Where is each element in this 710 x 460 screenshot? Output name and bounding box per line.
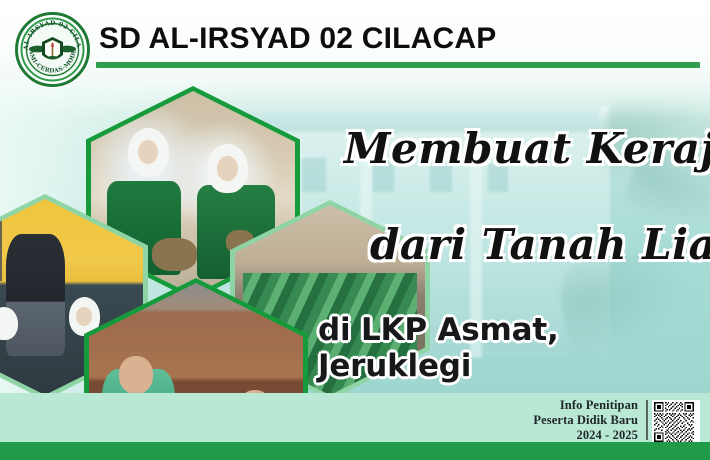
qr-code[interactable] [652, 400, 700, 448]
admission-info-line-1: Info Penitipan [533, 398, 638, 413]
title-underline-rule [96, 62, 700, 68]
admission-info: Info Penitipan Peserta Didik Baru 2024 -… [533, 398, 638, 443]
footer-divider [646, 400, 648, 440]
headline-line-3: di LKP Asmat, Jeruklegi [318, 312, 702, 384]
hexagon-photo-collage [0, 82, 316, 382]
headline-line-1: Membuat Kerajinan [344, 128, 710, 170]
school-crest-logo: SD AL-IRSYAD 02 CILACAP ISLAMI-CERDAS-MO… [14, 11, 91, 88]
admission-info-line-2: Peserta Didik Baru [533, 413, 638, 428]
footer-green-bar [0, 442, 710, 460]
poster-canvas: SD AL-IRSYAD 02 CILACAP ISLAMI-CERDAS-MO… [0, 0, 710, 460]
page-title: SD AL-IRSYAD 02 CILACAP [99, 20, 496, 58]
poster-header: SD AL-IRSYAD 02 CILACAP ISLAMI-CERDAS-MO… [0, 0, 710, 80]
admission-info-line-3: 2024 - 2025 [533, 428, 638, 443]
headline-line-2: dari Tanah Liat [370, 224, 710, 266]
